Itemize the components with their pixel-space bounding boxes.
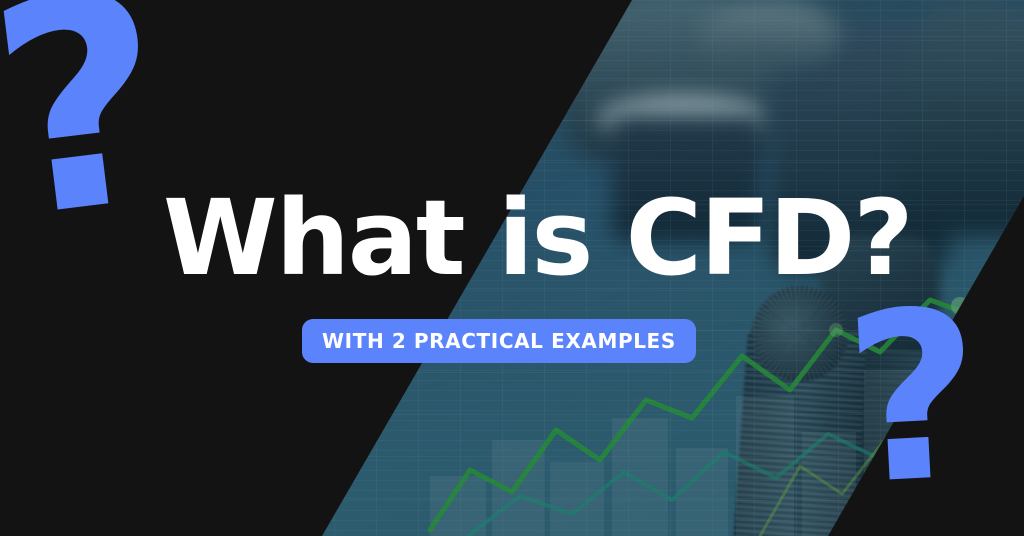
question-mark-icon: ? xyxy=(0,0,181,261)
page-title: What is CFD? xyxy=(163,186,912,290)
subtitle-badge: WITH 2 PRACTICAL EXAMPLES xyxy=(302,319,696,363)
question-mark-icon: ? xyxy=(840,279,987,518)
banner-hero: ? ? What is CFD? WITH 2 PRACTICAL EXAMPL… xyxy=(0,0,1024,536)
